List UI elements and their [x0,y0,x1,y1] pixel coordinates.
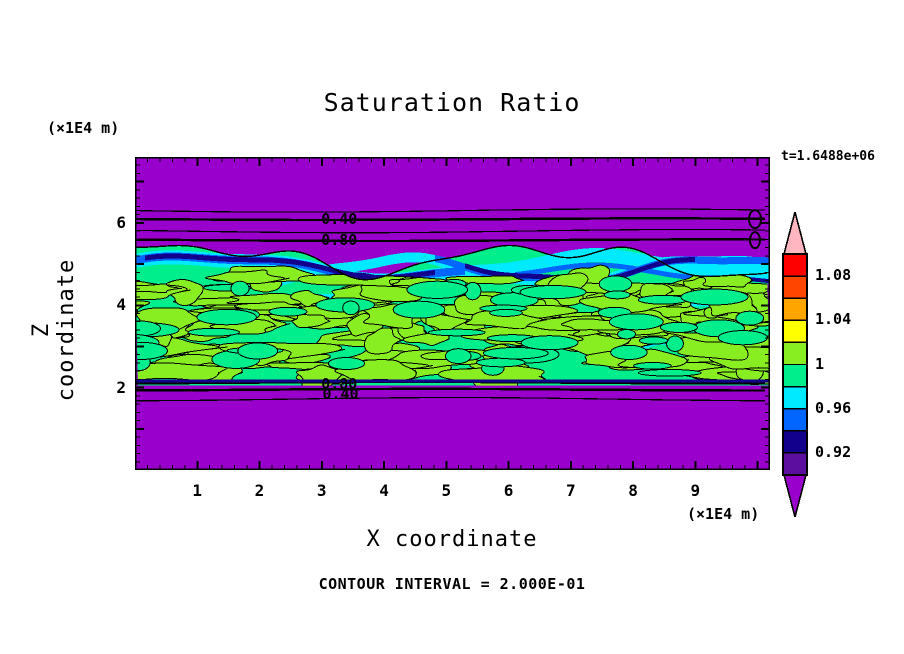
x-tick-label: 4 [374,481,394,500]
y-axis-unit-label: (×1E4 m) [47,119,119,137]
x-tick-label: 3 [312,481,332,500]
contour-label: 0.80 [321,231,357,249]
y-tick-label: 2 [112,378,126,397]
colorbar-tick-label: 0.92 [815,443,851,461]
page-title: Saturation Ratio [0,88,904,117]
timestamp-label: t=1.6488e+06 [781,149,875,164]
colorbar-swatches [780,212,810,517]
colorbar-tick-label: 1 [815,355,824,373]
x-axis-unit-label: (×1E4 m) [687,505,759,523]
x-tick-label: 1 [187,481,207,500]
colorbar-tick-label: 1.04 [815,310,851,328]
contour-field [135,157,770,470]
x-tick-label: 9 [685,481,705,500]
y-tick-label: 6 [112,213,126,232]
colorbar-tick-label: 0.96 [815,399,851,417]
x-tick-label: 7 [561,481,581,500]
contour-label: 0.40 [322,385,358,403]
contour-label: 0.40 [321,210,357,228]
y-axis-title: Z coordinate [29,245,79,415]
x-tick-label: 8 [623,481,643,500]
x-tick-label: 5 [436,481,456,500]
colorbar-tick-label: 1.08 [815,266,851,284]
y-tick-label: 4 [112,295,126,314]
x-tick-label: 6 [499,481,519,500]
colorbar[interactable] [780,212,810,517]
x-tick-label: 2 [250,481,270,500]
x-axis-title: X coordinate [0,527,904,552]
contour-plot[interactable] [135,157,770,470]
contour-interval-note: CONTOUR INTERVAL = 2.000E-01 [0,575,904,593]
